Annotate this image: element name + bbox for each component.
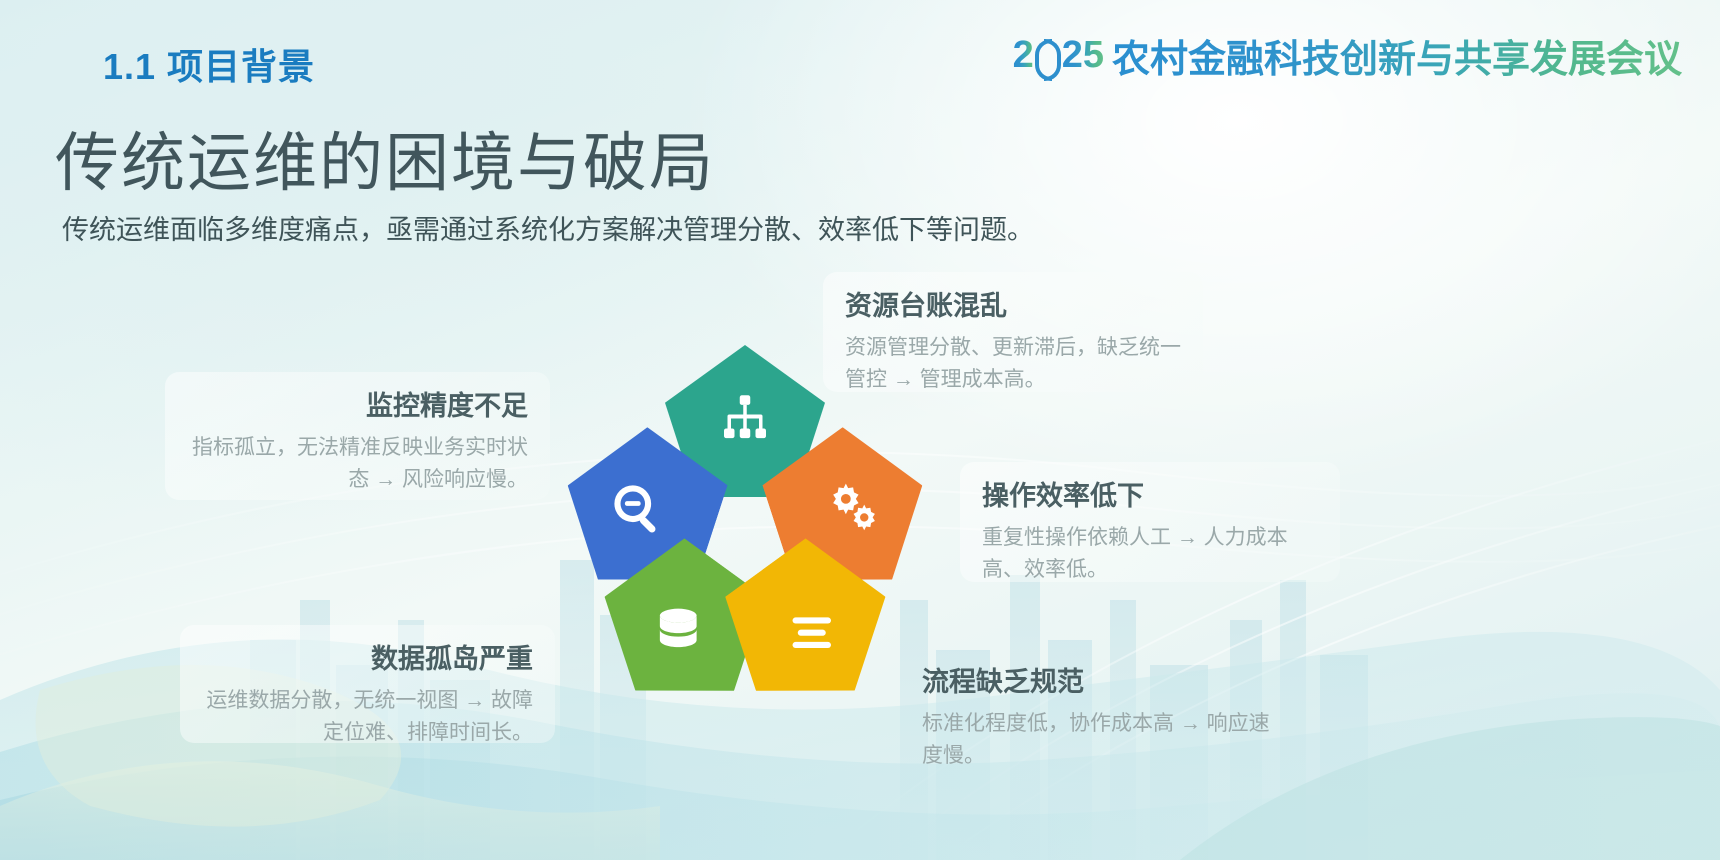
card-title: 监控精度不足 [187, 390, 528, 424]
stylized-zero-icon [1035, 37, 1061, 75]
conference-title: 2 25 农村金融科技创新与共享发展会议 [1013, 28, 1682, 83]
section-label: 1.1 项目背景 [103, 38, 315, 90]
conference-name: 农村金融科技创新与共享发展会议 [1112, 28, 1682, 83]
card-body: 运维数据分散，无统一视图 → 故障定位难、排障时间长。 [202, 685, 533, 750]
card-title: 数据孤岛严重 [202, 643, 533, 677]
gears-icon [825, 480, 881, 536]
conference-year-suffix: 25 [1062, 34, 1104, 77]
database-icon [650, 603, 706, 659]
card-title: 资源台账混乱 [845, 290, 1181, 324]
slide-canvas: 1.1 项目背景 2 25 农村金融科技创新与共享发展会议 传统运维的困境与破局… [0, 0, 1720, 860]
card-monitor[interactable]: 监控精度不足 指标孤立，无法精准反映业务实时状态 → 风险响应慢。 [165, 372, 550, 500]
card-body: 标准化程度低，协作成本高 → 响应速度慢。 [922, 708, 1278, 773]
wave-band-3 [0, 757, 1720, 860]
conference-year-prefix: 2 [1013, 34, 1034, 77]
page-subtitle: 传统运维面临多维度痛点，亟需通过系统化方案解决管理分散、效率低下等问题。 [62, 208, 1034, 247]
list-lines-icon [784, 603, 840, 659]
card-data-silo[interactable]: 数据孤岛严重 运维数据分散，无统一视图 → 故障定位难、排障时间长。 [180, 625, 555, 743]
card-process[interactable]: 流程缺乏规范 标准化程度低，协作成本高 → 响应速度慢。 [900, 648, 1300, 772]
sitemap-icon [717, 390, 773, 446]
card-title: 流程缺乏规范 [922, 666, 1278, 700]
card-body: 重复性操作依赖人工 → 人力成本高、效率低。 [982, 522, 1318, 587]
card-body: 指标孤立，无法精准反映业务实时状态 → 风险响应慢。 [187, 432, 528, 497]
wave-band-4 [0, 761, 660, 860]
card-operations[interactable]: 操作效率低下 重复性操作依赖人工 → 人力成本高、效率低。 [960, 462, 1340, 582]
card-title: 操作效率低下 [982, 480, 1318, 514]
magnifier-minus-icon [609, 480, 665, 536]
pentagon-cluster [545, 345, 945, 695]
page-title: 传统运维的困境与破局 [55, 112, 715, 204]
